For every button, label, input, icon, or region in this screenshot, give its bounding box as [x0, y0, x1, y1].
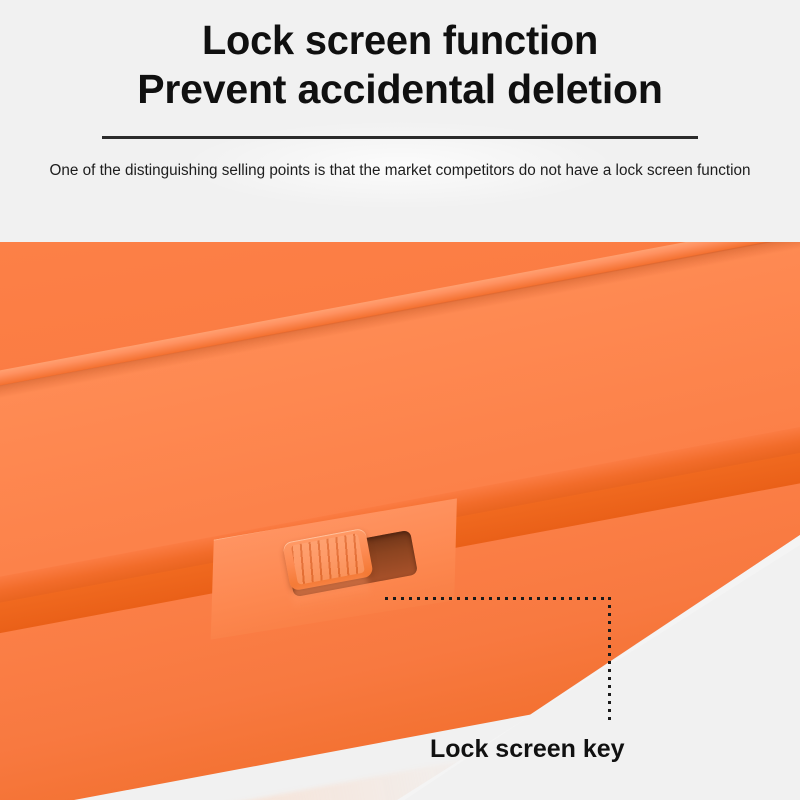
callout-line-horizontal [385, 597, 611, 600]
page-title-line-1: Lock screen function [12, 17, 788, 63]
header-section: Lock screen function Prevent accidental … [0, 0, 800, 242]
callout-label: Lock screen key [430, 733, 770, 765]
promo-page: Lock screen function Prevent accidental … [0, 0, 800, 800]
title-divider [102, 136, 698, 139]
padlock-open-icon [134, 788, 224, 800]
callout-line-vertical [608, 597, 611, 723]
page-title-line-2: Prevent accidental deletion [0, 66, 800, 112]
product-photo [0, 242, 800, 800]
page-subtitle: One of the distinguishing selling points… [6, 160, 794, 182]
